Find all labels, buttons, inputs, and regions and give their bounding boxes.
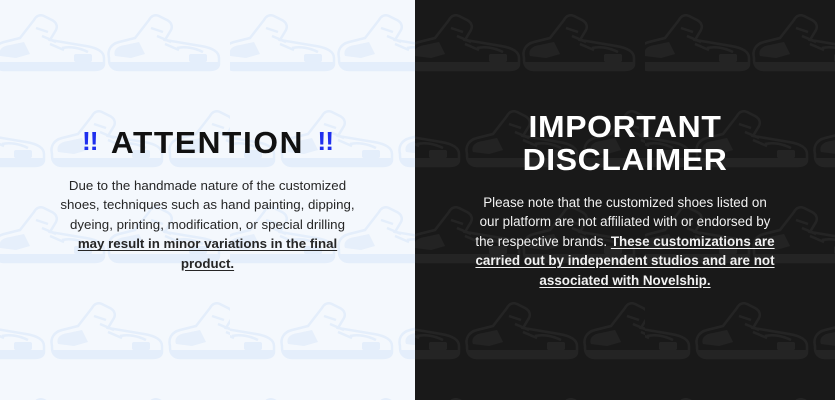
disclaimer-body-line-3: the respective brands. These customizati… xyxy=(437,232,813,251)
disclaimer-body-line-3-plain: the respective brands. xyxy=(475,234,610,249)
disclaimer-heading-line-2: DISCLAIMER xyxy=(431,143,818,176)
attention-body-line-2: shoes, techniques such as hand painting,… xyxy=(30,195,385,215)
disclaimer-content: IMPORTANT DISCLAIMER Please note that th… xyxy=(415,110,835,290)
disclaimer-banner: !! ATTENTION !! Due to the handmade natu… xyxy=(0,0,835,400)
disclaimer-panel: IMPORTANT DISCLAIMER Please note that th… xyxy=(415,0,835,400)
disclaimer-body-emphasis-line-1: These customizations are xyxy=(611,234,775,249)
attention-content: !! ATTENTION !! Due to the handmade natu… xyxy=(0,127,415,274)
attention-heading-text: ATTENTION xyxy=(111,127,304,158)
attention-heading: !! ATTENTION !! xyxy=(26,127,388,158)
disclaimer-body-line-1: Please note that the customized shoes li… xyxy=(437,193,813,212)
disclaimer-body-emphasis-line-3: associated with Novelship. xyxy=(437,271,813,290)
attention-panel: !! ATTENTION !! Due to the handmade natu… xyxy=(0,0,415,400)
attention-body-emphasis-line-1: may result in minor variations in the fi… xyxy=(30,234,385,254)
disclaimer-heading: IMPORTANT DISCLAIMER xyxy=(431,110,818,177)
attention-body-line-3: dyeing, printing, modification, or speci… xyxy=(30,215,385,235)
disclaimer-body-emphasis-line-2: carried out by independent studios and a… xyxy=(437,251,813,270)
disclaimer-body: Please note that the customized shoes li… xyxy=(437,193,813,290)
disclaimer-heading-line-1: IMPORTANT xyxy=(431,110,818,143)
disclaimer-body-line-2: our platform are not affiliated with or … xyxy=(437,212,813,231)
attention-body-line-1: Due to the handmade nature of the custom… xyxy=(30,176,385,196)
exclamation-marks-left-icon: !! xyxy=(82,128,98,154)
attention-body: Due to the handmade nature of the custom… xyxy=(30,176,385,274)
attention-body-emphasis-line-2: product. xyxy=(30,254,385,274)
exclamation-marks-right-icon: !! xyxy=(317,128,333,154)
